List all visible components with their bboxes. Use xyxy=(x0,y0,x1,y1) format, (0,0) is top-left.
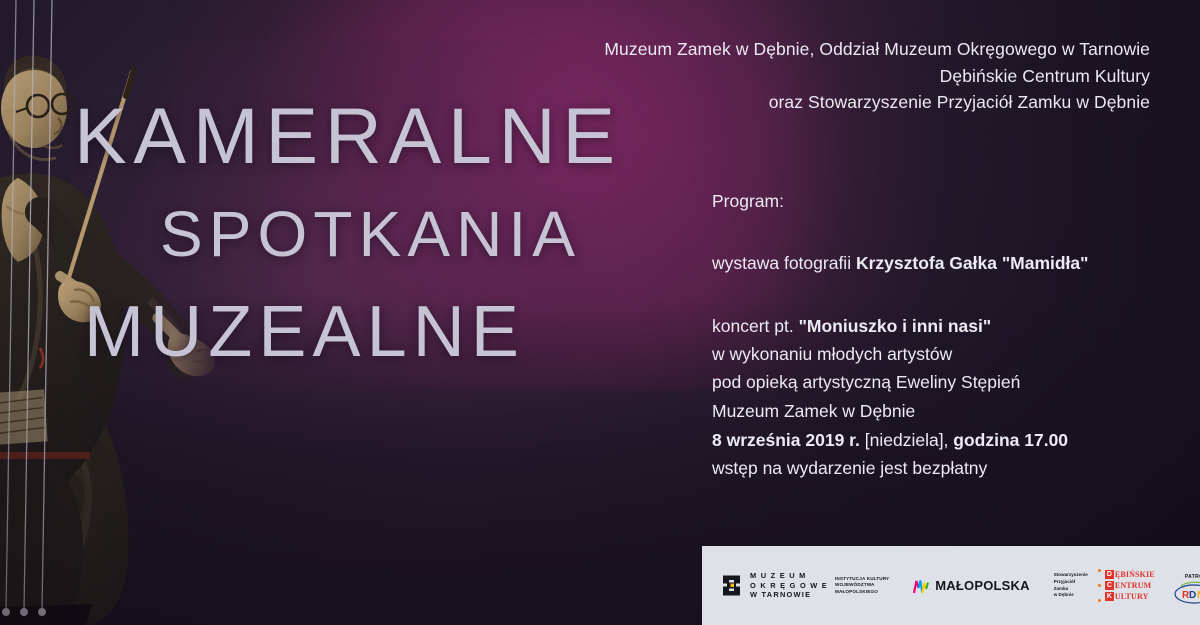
patronage-caption: PATRONAT MEDIALNY xyxy=(1185,574,1200,580)
museum-name-line-1: M U Z E U M xyxy=(750,571,828,580)
organizer-line-1: Muzeum Zamek w Dębnie, Oddział Muzeum Ok… xyxy=(530,36,1150,63)
association-line-4: w Dębnie xyxy=(1054,592,1088,599)
sponsor-logo-bar: M U Z E U M O K R Ę G O W E W TARNOWIE I… xyxy=(702,546,1200,625)
dck-dot-3 xyxy=(1098,599,1101,602)
museum-sub-line-3: MAŁOPOLSKIEGO xyxy=(835,589,889,595)
title-line-2: SPOTKANIA xyxy=(160,202,581,266)
organizer-line-3: oraz Stowarzyszenie Przyjaciół Zamku w D… xyxy=(530,89,1150,116)
title-line-3: MUZEALNE xyxy=(84,296,525,368)
dck-row-1: D ĘBIŃSKIE xyxy=(1105,569,1155,580)
exhibition-lead: wystawa fotografii xyxy=(712,253,856,273)
muzeum-okregowe-mark xyxy=(722,574,744,597)
logo-group-association-dck: Stowarzyszenie Przyjaciół Zamku w Dębnie… xyxy=(1054,569,1155,602)
concert-line-2: w wykonaniu młodych artystów xyxy=(712,341,1182,367)
concert-line-3: pod opieką artystyczną Eweliny Stępień xyxy=(712,369,1182,395)
association-name: Stowarzyszenie Przyjaciół Zamku w Dębnie xyxy=(1054,572,1088,598)
venue-place: Muzeum Zamek w Dębnie xyxy=(712,398,1182,425)
media-patronage-group: PATRONAT MEDIALNY R D N RADIO KRAKÓW xyxy=(1173,565,1200,606)
concert-line-1: koncert pt. "Moniuszko i inni nasi" xyxy=(712,313,1182,339)
dck-row-3: K ULTURY xyxy=(1105,591,1155,602)
muzeum-accent-dot xyxy=(731,584,735,588)
organizers-header: Muzeum Zamek w Dębnie, Oddział Muzeum Ok… xyxy=(530,36,1150,116)
muzeum-okregowe-subtitle: INSTYTUCJA KULTURY WOJEWÓDZTWA MAŁOPOLSK… xyxy=(835,576,889,594)
dck-dot-2 xyxy=(1098,584,1101,587)
venue-admission: wstęp na wydarzenie jest bezpłatny xyxy=(712,455,1182,482)
program-exhibition: wystawa fotografii Krzysztofa Gałka "Mam… xyxy=(712,250,1182,276)
muzeum-okregowe-name: M U Z E U M O K R Ę G O W E W TARNOWIE xyxy=(750,571,828,599)
dck-row-2: C ENTRUM xyxy=(1105,580,1155,591)
logo-dck: D ĘBIŃSKIE C ENTRUM K ULTURY xyxy=(1098,569,1155,602)
logo-muzeum-okregowe: M U Z E U M O K R Ę G O W E W TARNOWIE I… xyxy=(722,571,889,599)
venue-datetime: 8 września 2019 r. [niedziela], godzina … xyxy=(712,427,1182,454)
dck-word-2: ENTRUM xyxy=(1115,581,1152,590)
venue-date: 8 września 2019 r. xyxy=(712,430,860,450)
dck-dot-1 xyxy=(1098,569,1101,572)
malopolska-wordmark: MAŁOPOLSKA xyxy=(935,578,1029,593)
svg-text:D: D xyxy=(1189,590,1196,601)
museum-name-line-3: W TARNOWIE xyxy=(750,590,828,599)
concert-lead: koncert pt. xyxy=(712,316,799,336)
dck-word-1: ĘBIŃSKIE xyxy=(1115,570,1155,579)
malopolska-mark xyxy=(913,577,930,594)
dck-letter-c: C xyxy=(1105,581,1114,590)
rdn-logo: R D N xyxy=(1173,580,1200,606)
dck-wordmark: D ĘBIŃSKIE C ENTRUM K ULTURY xyxy=(1105,569,1155,602)
dck-dots xyxy=(1098,569,1101,602)
venue-section: Muzeum Zamek w Dębnie 8 września 2019 r.… xyxy=(712,398,1182,482)
media-logos: R D N RADIO KRAKÓW xyxy=(1173,580,1200,606)
program-heading: Program: xyxy=(712,188,1182,214)
event-poster: KAMERALNE SPOTKANIA MUZEALNE Muzeum Zame… xyxy=(0,0,1200,625)
venue-weekday: [niedziela], xyxy=(860,430,953,450)
museum-name-line-2: O K R Ę G O W E xyxy=(750,581,828,590)
dck-letter-k: K xyxy=(1105,592,1114,601)
program-section: Program: wystawa fotografii Krzysztofa G… xyxy=(712,188,1182,395)
logo-malopolska: MAŁOPOLSKA xyxy=(913,577,1029,594)
dck-letter-d: D xyxy=(1105,570,1114,579)
concert-title: "Moniuszko i inni nasi" xyxy=(799,316,992,336)
program-concert: koncert pt. "Moniuszko i inni nasi" w wy… xyxy=(712,313,1182,396)
exhibition-title: Krzysztofa Gałka "Mamidła" xyxy=(856,253,1089,273)
dck-word-3: ULTURY xyxy=(1115,592,1149,601)
organizer-line-2: Dębińskie Centrum Kultury xyxy=(530,63,1150,90)
venue-time: godzina 17.00 xyxy=(953,430,1068,450)
